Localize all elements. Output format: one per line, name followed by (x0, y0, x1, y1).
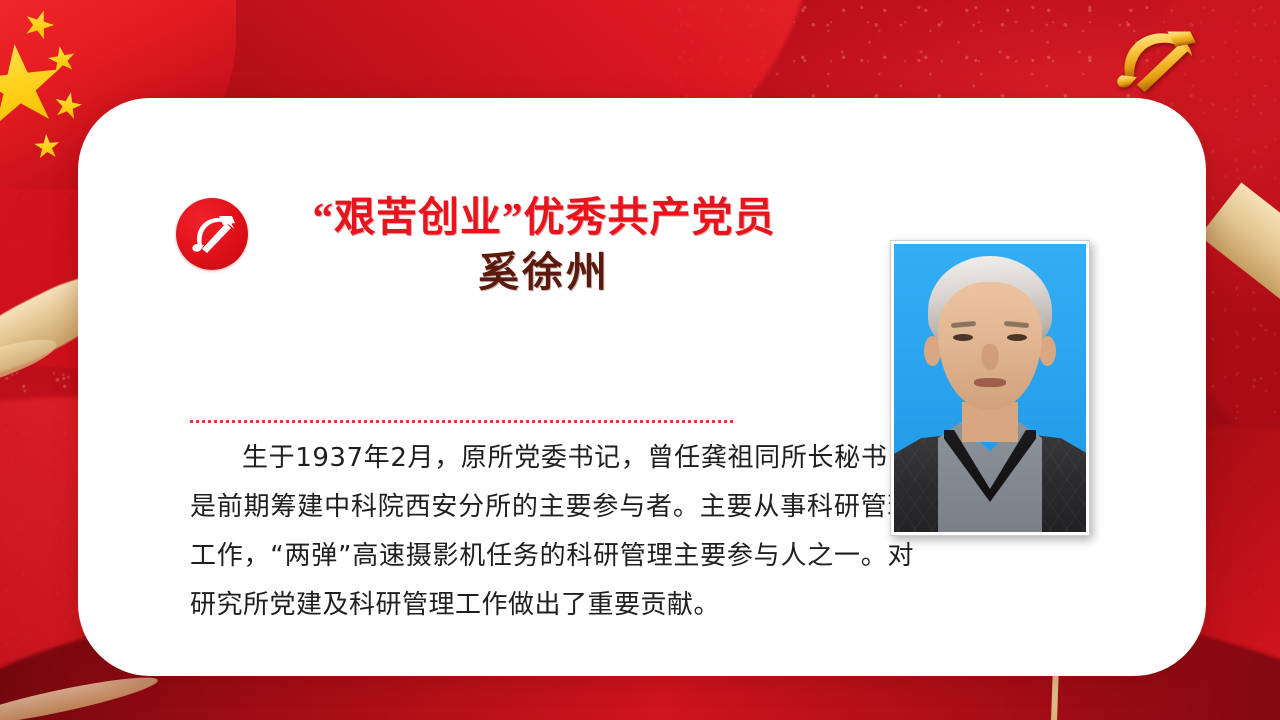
header-row: “艰苦创业”优秀共产党员 奚徐州 (100, 190, 860, 306)
dotted-divider (190, 420, 736, 423)
content-card: “艰苦创业”优秀共产党员 奚徐州 生于1937年2月，原所党委书记，曾任龚祖同所… (78, 98, 1206, 676)
biography-paragraph: 生于1937年2月，原所党委书记，曾任龚祖同所长秘书，是前期筹建中科院西安分所的… (190, 434, 914, 630)
portrait-eye-right (1007, 334, 1027, 341)
portrait-nose (982, 344, 999, 370)
person-name: 奚徐州 (224, 244, 864, 300)
portrait-frame (890, 240, 1090, 536)
portrait-mouth (974, 378, 1006, 387)
portrait-eye-left (953, 334, 973, 341)
hammer-sickle-gold-icon (1108, 22, 1204, 98)
slide-root: “艰苦创业”优秀共产党员 奚徐州 生于1937年2月，原所党委书记，曾任龚祖同所… (0, 0, 1280, 720)
portrait-photo (894, 244, 1086, 532)
page-title: “艰苦创业”优秀共产党员 (224, 190, 864, 244)
title-block: “艰苦创业”优秀共产党员 奚徐州 (224, 190, 864, 300)
